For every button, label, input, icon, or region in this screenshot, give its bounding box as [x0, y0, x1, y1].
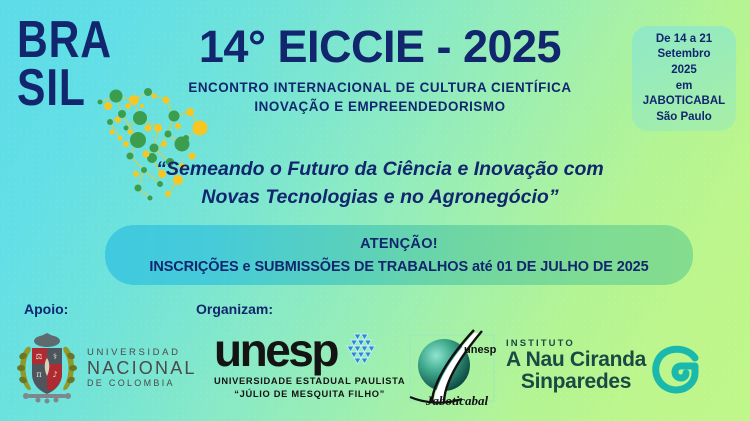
banner-detail: INSCRIÇÕES e SUBMISSÕES DE TRABALHOS até…	[149, 259, 648, 275]
event-poster: BRA SIL	[0, 0, 750, 421]
unesp-subtitle-1: UNIVERSIDADE ESTADUAL PAULISTA	[214, 375, 405, 388]
svg-text:π: π	[36, 370, 41, 379]
svg-text:⚖: ⚖	[35, 352, 42, 361]
logo-unesp-jaboticabal: unesp Jaboticabal	[404, 325, 500, 411]
date-range: De 14 a 21	[656, 32, 712, 48]
banner-headline: ATENÇÃO!	[360, 236, 438, 252]
nau-name-line-1: A Nau Ciranda	[506, 349, 646, 371]
unal-wordmark: UNIVERSIDAD NACIONAL DE COLOMBIA	[87, 348, 197, 389]
logo-universidad-nacional-colombia: ⚖ ⚕ π ♪ UNIVERSIDAD NACIONAL DE COLOMBIA	[14, 332, 197, 404]
event-tagline: “Semeando o Futuro da Ciência e Inovação…	[120, 156, 640, 211]
tagline-line-1: “Semeando o Futuro da Ciência e Inovação…	[120, 156, 640, 184]
logo-a-nau-ciranda: INSTITUTO A Nau Ciranda Sinparedes	[506, 338, 701, 394]
unesp-wordmark: unesp	[214, 330, 337, 371]
support-label: Apoio:	[24, 301, 68, 317]
location-preposition: em	[676, 79, 693, 95]
page-title: 14° EICCIE - 2025	[150, 24, 610, 70]
nau-name-line-2: Sinparedes	[506, 371, 646, 393]
unesp-subtitle-2: “JÚLIO DE MESQUITA FILHO”	[214, 388, 405, 401]
spiral-swirl-icon	[651, 344, 701, 394]
title-block: 14° EICCIE - 2025 ENCONTRO INTERNACIONAL…	[150, 24, 610, 116]
unesp-wordmark-row: unesp	[214, 330, 405, 371]
tagline-line-2: Novas Tecnologias e no Agronegócio”	[120, 184, 640, 212]
attention-banner: ATENÇÃO! INSCRIÇÕES e SUBMISSÕES DE TRAB…	[105, 225, 693, 285]
date-month: Setembro	[657, 47, 710, 63]
unal-crest-icon: ⚖ ⚕ π ♪	[14, 332, 80, 404]
subtitle-line-1: ENCONTRO INTERNACIONAL DE CULTURA CIENTÍ…	[150, 78, 610, 97]
subtitle-line-2: INOVAÇÃO E EMPREENDEDORISMO	[150, 97, 610, 116]
unal-line-1: UNIVERSIDAD	[87, 348, 197, 359]
unal-line-3: DE COLOMBIA	[87, 378, 197, 388]
jaboticabal-campus-text: Jaboticabal	[425, 393, 488, 408]
date-location-badge: De 14 a 21 Setembro 2025 em JABOTICABAL …	[632, 26, 736, 131]
date-year: 2025	[671, 63, 697, 79]
nau-wordmark: INSTITUTO A Nau Ciranda Sinparedes	[506, 339, 646, 393]
svg-text:♪: ♪	[52, 370, 57, 379]
organizers-label: Organizam:	[196, 301, 273, 317]
svg-text:⚕: ⚕	[53, 352, 57, 361]
location-state: São Paulo	[656, 110, 712, 126]
unal-line-2: NACIONAL	[87, 358, 197, 378]
location-city: JABOTICABAL	[643, 94, 725, 110]
unesp-hexagon-icon	[340, 332, 382, 368]
logo-unesp: unesp UNIVERSIDADE ESTADUAL PAULISTA “JÚ…	[214, 330, 405, 400]
jaboticabal-brand-text: unesp	[464, 344, 497, 356]
